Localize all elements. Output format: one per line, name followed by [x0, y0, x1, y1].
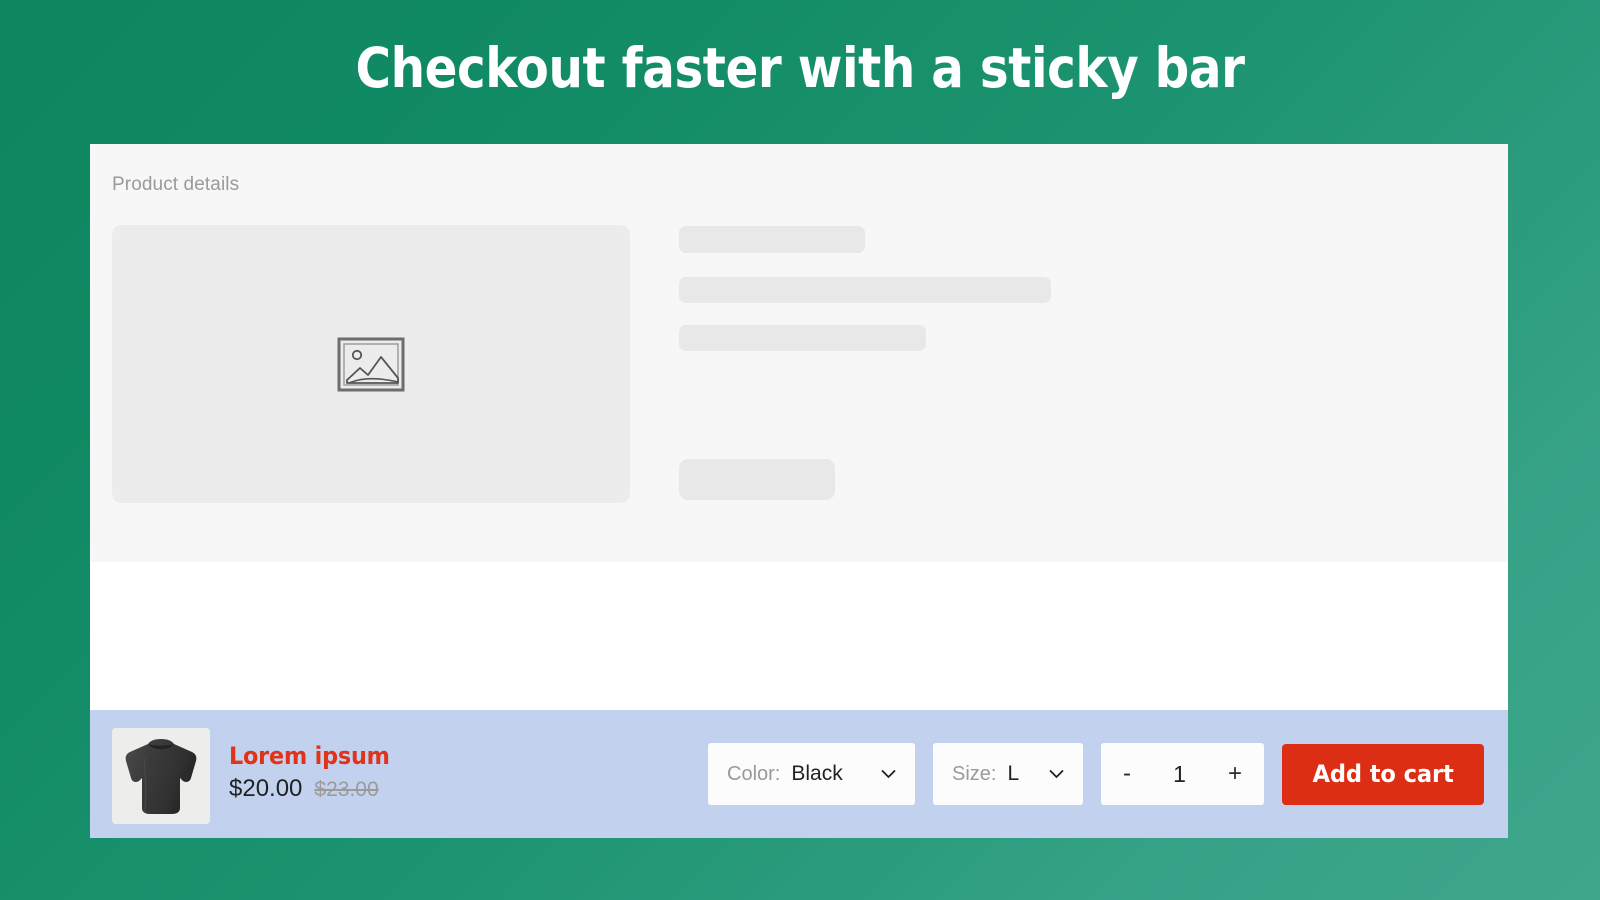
chevron-down-icon — [1049, 769, 1064, 779]
skeleton-line-medium — [679, 325, 926, 351]
size-select-label: Size: — [952, 763, 996, 786]
product-details-panel: Product details — [90, 144, 1508, 562]
product-page-card: Product details — [90, 144, 1508, 838]
product-details-heading: Product details — [112, 174, 239, 196]
quantity-stepper: - 1 + — [1101, 743, 1264, 805]
chevron-down-icon — [881, 769, 896, 779]
sticky-product-info: Lorem ipsum $20.00 $23.00 — [229, 742, 629, 803]
quantity-decrement-button[interactable]: - — [1123, 762, 1131, 786]
color-select-value: Black — [791, 762, 870, 786]
price-row: $20.00 $23.00 — [229, 775, 629, 803]
tshirt-thumbnail-icon — [112, 728, 210, 824]
add-to-cart-label: Add to cart — [1313, 760, 1454, 788]
size-select[interactable]: Size: L — [933, 743, 1083, 805]
sticky-bar-controls: Color: Black Size: L - 1 + Add to cart — [708, 743, 1484, 805]
product-thumbnail[interactable] — [112, 728, 210, 824]
add-to-cart-button[interactable]: Add to cart — [1282, 744, 1484, 805]
price-current: $20.00 — [229, 775, 302, 803]
color-select[interactable]: Color: Black — [708, 743, 915, 805]
skeleton-line-title — [679, 226, 865, 253]
quantity-value[interactable]: 1 — [1173, 761, 1186, 788]
skeleton-button-block — [679, 459, 835, 500]
sticky-add-to-cart-bar: Lorem ipsum $20.00 $23.00 Color: Black S… — [90, 710, 1508, 838]
product-image-placeholder — [112, 225, 630, 503]
product-name: Lorem ipsum — [229, 742, 601, 770]
quantity-increment-button[interactable]: + — [1228, 762, 1242, 786]
skeleton-line-long — [679, 277, 1051, 303]
image-placeholder-icon — [337, 337, 405, 392]
color-select-label: Color: — [727, 763, 780, 786]
price-original: $23.00 — [314, 778, 378, 802]
page-title: Checkout faster with a sticky bar — [96, 38, 1504, 99]
size-select-value: L — [1007, 762, 1038, 786]
